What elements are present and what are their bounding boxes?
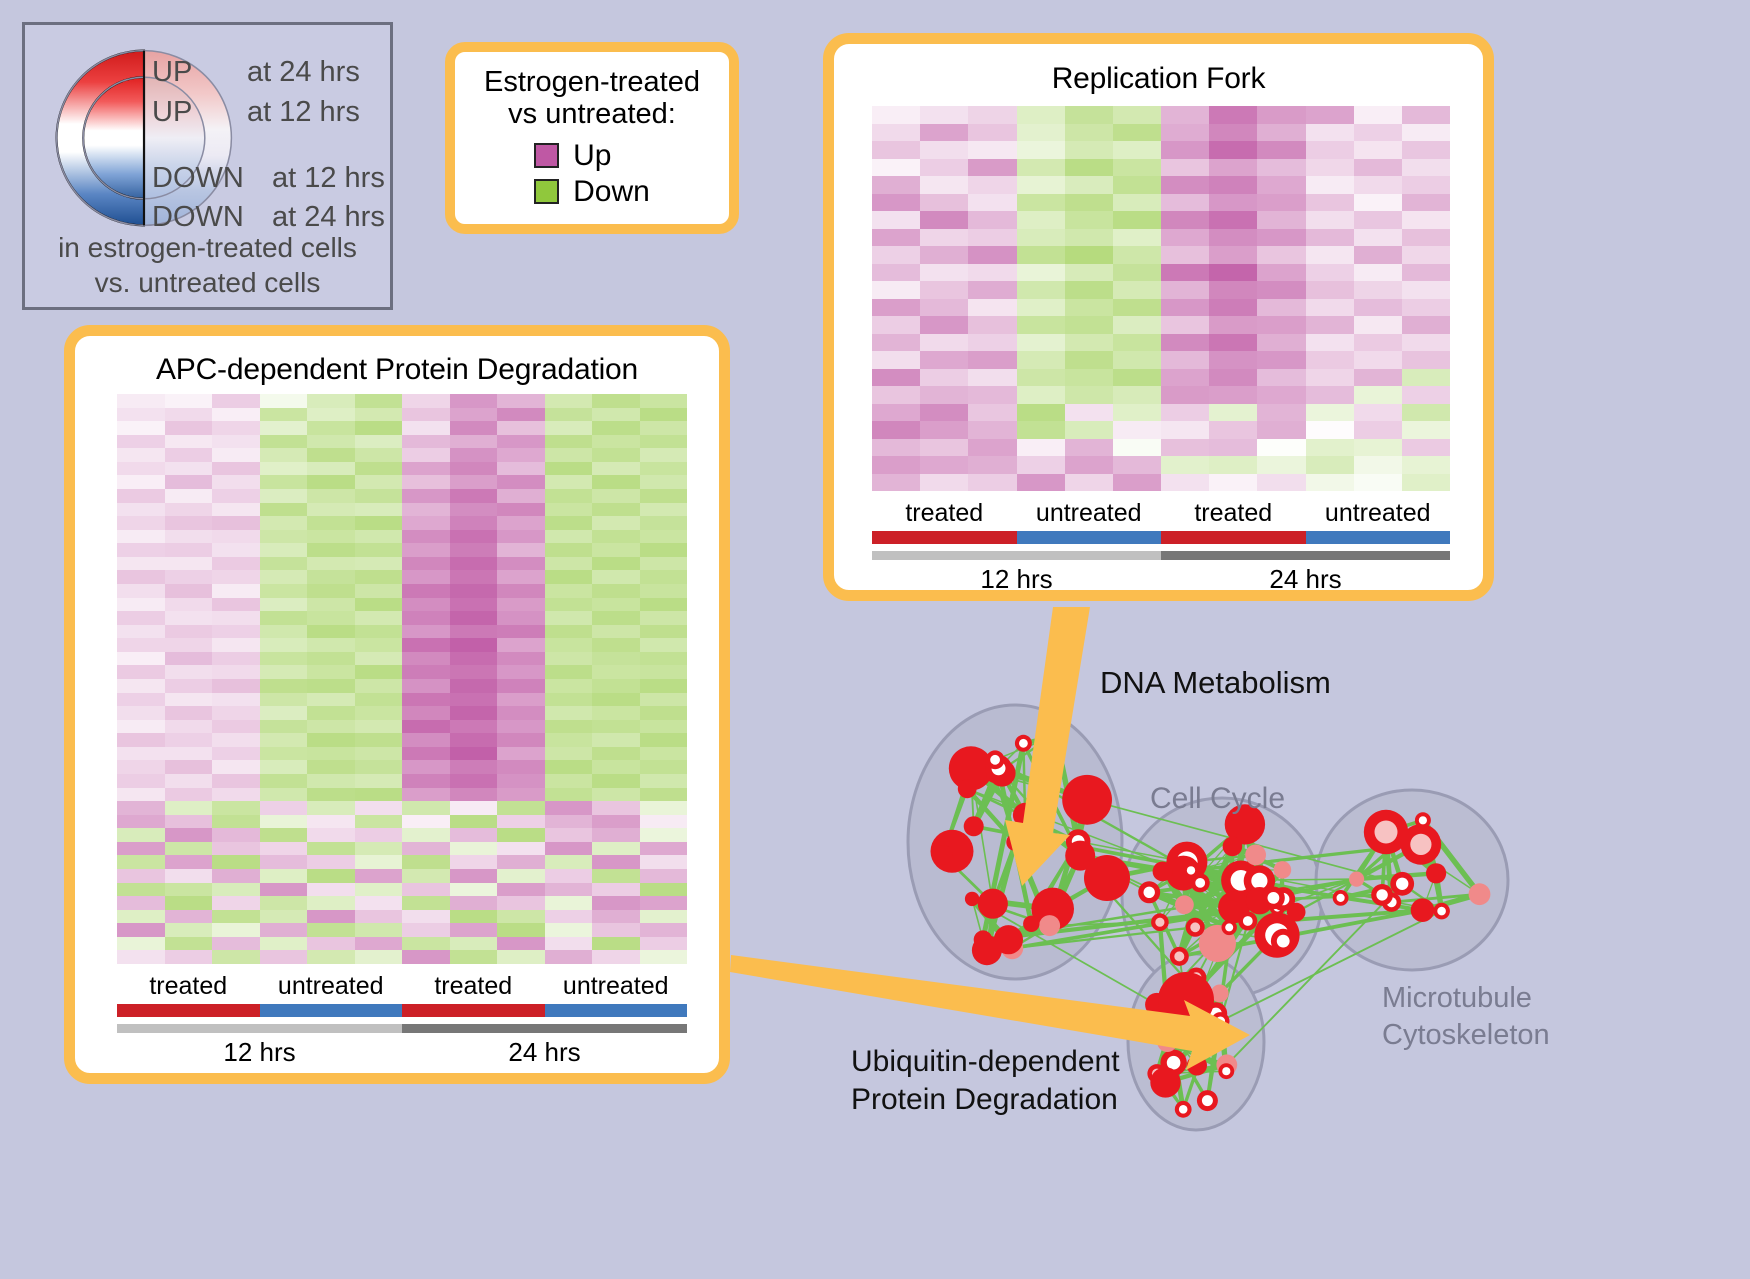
heatmap-cell xyxy=(545,652,593,666)
heatmap-cell xyxy=(920,264,968,282)
heatmap-cell xyxy=(260,842,308,856)
key-row-0-time: at 24 hrs xyxy=(247,56,360,89)
network-node xyxy=(1031,888,1074,931)
heatmap-cell xyxy=(872,194,920,212)
heatmap-cell xyxy=(1257,386,1305,404)
heatmap-cell xyxy=(260,679,308,693)
heatmap-cell xyxy=(872,176,920,194)
network-node-core xyxy=(990,755,1000,765)
heatmap-cell xyxy=(640,950,688,964)
heatmap-cell xyxy=(592,815,640,829)
heatmap-cell xyxy=(1306,474,1354,492)
heatmap-cell xyxy=(212,408,260,422)
heatmap-cell xyxy=(497,625,545,639)
heatmap-cell xyxy=(402,828,450,842)
heatmap-cell xyxy=(260,720,308,734)
heatmap-cell xyxy=(592,421,640,435)
heatmap-cell xyxy=(212,584,260,598)
network-node xyxy=(1066,829,1091,854)
network-node xyxy=(1175,1101,1192,1118)
heatmap-cell xyxy=(165,638,213,652)
heatmap-cell xyxy=(1161,474,1209,492)
heatmap-cell xyxy=(640,788,688,802)
network-node xyxy=(1205,1002,1228,1025)
network-node xyxy=(994,925,1023,954)
legend-header: Estrogen-treated vs untreated: xyxy=(484,66,700,131)
heatmap-cell xyxy=(307,788,355,802)
heatmap-cell xyxy=(640,557,688,571)
heatmap-cell xyxy=(355,815,403,829)
heatmap-cell xyxy=(1065,316,1113,334)
heatmap-cell xyxy=(640,584,688,598)
heatmap-cell xyxy=(117,679,165,693)
heatmap-cell xyxy=(497,747,545,761)
heatmap-cell xyxy=(1402,351,1450,369)
heatmap-cell xyxy=(640,923,688,937)
heatmap-cell xyxy=(497,855,545,869)
heatmap-cell xyxy=(1306,439,1354,457)
heatmap-cell xyxy=(165,543,213,557)
time-labels: 12 hrs24 hrs xyxy=(117,1037,687,1068)
heatmap-cell xyxy=(117,774,165,788)
heatmap-cell xyxy=(1257,194,1305,212)
heatmap-cell xyxy=(260,815,308,829)
heatmap-cell xyxy=(640,625,688,639)
network-node-core xyxy=(1337,894,1345,902)
heatmap-cell xyxy=(260,910,308,924)
heatmap-cell xyxy=(545,448,593,462)
heatmap-cell xyxy=(212,489,260,503)
heatmap-cell xyxy=(1113,334,1161,352)
cluster-label-ubiquitin: Ubiquitin-dependent Protein Degradation xyxy=(851,1043,1120,1120)
heatmap-cell xyxy=(450,855,498,869)
heatmap-cell xyxy=(307,774,355,788)
heatmap-cell xyxy=(1113,159,1161,177)
heatmap-cell xyxy=(165,774,213,788)
network-node xyxy=(1187,1055,1207,1075)
arrow-replication-fork xyxy=(1005,607,1090,886)
heatmap-cell xyxy=(1161,141,1209,159)
heatmap-cell xyxy=(212,855,260,869)
heatmap-cell xyxy=(497,760,545,774)
heatmap-cell xyxy=(165,503,213,517)
heatmap-cell xyxy=(1402,334,1450,352)
heatmap-cell xyxy=(497,543,545,557)
network-node xyxy=(1153,862,1173,882)
color-key-box: UP at 24 hrs UP at 12 hrs DOWN at 12 hrs… xyxy=(22,22,393,310)
heatmap-cell xyxy=(968,124,1016,142)
network-node xyxy=(1183,862,1199,878)
time-label: 12 hrs xyxy=(117,1037,402,1068)
heatmap-cell xyxy=(640,815,688,829)
heatmap-cell xyxy=(450,421,498,435)
heatmap-cell xyxy=(1209,281,1257,299)
heatmap-cell xyxy=(117,598,165,612)
heatmap-cell xyxy=(497,910,545,924)
heatmap-cell xyxy=(1354,211,1402,229)
heatmap-cell xyxy=(1354,141,1402,159)
heatmap-cell xyxy=(402,475,450,489)
cluster-halo-dna-metabolism xyxy=(908,705,1122,979)
network-node xyxy=(1166,856,1201,891)
network-node-core xyxy=(1243,916,1253,926)
heatmap-cell xyxy=(1209,159,1257,177)
heatmap-cell xyxy=(497,421,545,435)
network-node xyxy=(1150,1067,1180,1097)
heatmap-cell xyxy=(402,598,450,612)
heatmap-cell xyxy=(872,299,920,317)
network-node-core xyxy=(1019,739,1028,748)
heatmap-cell xyxy=(968,176,1016,194)
replication-fork-panel: Replication Fork treateduntreatedtreated… xyxy=(823,33,1494,601)
heatmap-cell xyxy=(1017,351,1065,369)
heatmap-cell xyxy=(402,693,450,707)
heatmap-cell xyxy=(307,448,355,462)
heatmap-cell xyxy=(212,747,260,761)
heatmap-cell xyxy=(1113,369,1161,387)
cluster-label-microtubule: Microtubule Cytoskeleton xyxy=(1382,980,1550,1054)
heatmap-cell xyxy=(212,394,260,408)
heatmap-cell xyxy=(497,462,545,476)
heatmap-cell xyxy=(968,194,1016,212)
heatmap-cell xyxy=(1209,456,1257,474)
network-node-core xyxy=(1174,951,1184,961)
heatmap-cell xyxy=(165,652,213,666)
heatmap-cell xyxy=(640,910,688,924)
heatmap-cell xyxy=(402,950,450,964)
network-node xyxy=(1147,1064,1166,1083)
heatmap-cell xyxy=(307,421,355,435)
heatmap-cell xyxy=(1306,299,1354,317)
heatmap-cell xyxy=(212,611,260,625)
heatmap-cell xyxy=(212,679,260,693)
heatmap-cell xyxy=(402,625,450,639)
network-node xyxy=(1270,900,1286,916)
network-node xyxy=(1186,968,1206,988)
legend-item-up-label: Up xyxy=(573,139,611,173)
heatmap-cell xyxy=(968,474,1016,492)
heatmap-cell xyxy=(117,747,165,761)
heatmap-cell xyxy=(165,679,213,693)
network-node-core xyxy=(1176,851,1197,872)
treatment-segment xyxy=(260,1004,403,1017)
heatmap-cell xyxy=(260,611,308,625)
legend-item-down-label: Down xyxy=(573,175,650,209)
heatmap-cell xyxy=(165,625,213,639)
heatmap-cell xyxy=(497,557,545,571)
heatmap-cell xyxy=(450,475,498,489)
network-node xyxy=(1166,842,1207,883)
heatmap-cell xyxy=(450,693,498,707)
heatmap-cell xyxy=(1065,229,1113,247)
heatmap-cell xyxy=(1065,159,1113,177)
heatmap-cell xyxy=(592,774,640,788)
heatmap-cell xyxy=(165,435,213,449)
heatmap-cell xyxy=(1402,124,1450,142)
heatmap-cell xyxy=(165,937,213,951)
heatmap-cell xyxy=(117,760,165,774)
heatmap-cell xyxy=(212,503,260,517)
heatmap-cell xyxy=(968,316,1016,334)
heatmap-cell xyxy=(260,584,308,598)
heatmap-cell xyxy=(1017,386,1065,404)
heatmap-cell xyxy=(1209,404,1257,422)
heatmap-cell xyxy=(968,159,1016,177)
heatmap-cell xyxy=(165,788,213,802)
heatmap-cell xyxy=(1402,369,1450,387)
heatmap-cell xyxy=(117,489,165,503)
heatmap-cell xyxy=(497,448,545,462)
network-node xyxy=(933,845,953,865)
heatmap-cell xyxy=(1354,404,1402,422)
heatmap-cell xyxy=(1065,369,1113,387)
apc-panel: APC-dependent Protein Degradation treate… xyxy=(64,325,730,1084)
network-node-core xyxy=(1155,918,1164,927)
heatmap-cell xyxy=(640,693,688,707)
heatmap-cell xyxy=(402,652,450,666)
heatmap-cell xyxy=(450,625,498,639)
heatmap-cell xyxy=(640,638,688,652)
heatmap-cell xyxy=(1017,369,1065,387)
heatmap-cell xyxy=(212,462,260,476)
heatmap-cell xyxy=(1402,439,1450,457)
heatmap-cell xyxy=(497,665,545,679)
heatmap-cell xyxy=(592,950,640,964)
heatmap-cell xyxy=(1065,351,1113,369)
heatmap-cell xyxy=(450,394,498,408)
time-segment xyxy=(872,551,1161,560)
heatmap-cell xyxy=(260,801,308,815)
heatmap-cell xyxy=(872,404,920,422)
heatmap-cell xyxy=(402,842,450,856)
heatmap-cell xyxy=(1402,404,1450,422)
heatmap-cell xyxy=(1257,281,1305,299)
heatmap-cell xyxy=(968,439,1016,457)
network-node xyxy=(1238,912,1257,931)
heatmap-cell xyxy=(117,435,165,449)
heatmap-cell xyxy=(260,435,308,449)
heatmap-cell xyxy=(872,264,920,282)
heatmap-cell xyxy=(545,733,593,747)
cluster-halo-ubiquitin xyxy=(1128,954,1264,1130)
heatmap-cell xyxy=(920,229,968,247)
heatmap-cell xyxy=(545,896,593,910)
heatmap-cell xyxy=(212,570,260,584)
heatmap-cell xyxy=(1209,334,1257,352)
heatmap-cell xyxy=(640,760,688,774)
heatmap-cell xyxy=(545,408,593,422)
heatmap-cell xyxy=(1402,246,1450,264)
heatmap-cell xyxy=(307,693,355,707)
heatmap-cell xyxy=(640,720,688,734)
heatmap-cell xyxy=(1257,229,1305,247)
heatmap-cell xyxy=(1113,421,1161,439)
heatmap-cell xyxy=(497,937,545,951)
heatmap-cell xyxy=(212,760,260,774)
heatmap-cell xyxy=(260,448,308,462)
network-node-core xyxy=(1437,907,1446,916)
heatmap-cell xyxy=(1161,316,1209,334)
heatmap-cell xyxy=(497,530,545,544)
heatmap-cell xyxy=(355,788,403,802)
heatmap-cell xyxy=(450,896,498,910)
heatmap-cell xyxy=(592,855,640,869)
key-row-0-value: UP xyxy=(152,56,192,89)
network-node-core xyxy=(1144,887,1155,898)
heatmap-cell xyxy=(545,828,593,842)
heatmap-cell xyxy=(402,760,450,774)
heatmap-cell xyxy=(165,394,213,408)
heatmap-cell xyxy=(592,747,640,761)
network-node xyxy=(1151,913,1169,931)
network-node-core xyxy=(992,761,1006,775)
heatmap-cell xyxy=(545,665,593,679)
heatmap-cell xyxy=(355,937,403,951)
heatmap-cell xyxy=(1354,369,1402,387)
key-row-2-time: at 12 hrs xyxy=(272,162,385,195)
network-node xyxy=(1333,890,1349,906)
heatmap-cell xyxy=(1209,246,1257,264)
heatmap-cell xyxy=(640,408,688,422)
time-label: 24 hrs xyxy=(402,1037,687,1068)
heatmap-cell xyxy=(117,923,165,937)
heatmap-cell xyxy=(450,448,498,462)
heatmap-cell xyxy=(640,801,688,815)
heatmap-cell xyxy=(640,462,688,476)
network-node xyxy=(964,816,984,836)
heatmap-cell xyxy=(1113,106,1161,124)
heatmap-cell xyxy=(402,937,450,951)
heatmap-cell xyxy=(1306,316,1354,334)
heatmap-cell xyxy=(640,679,688,693)
heatmap-cell xyxy=(872,351,920,369)
heatmap-cell xyxy=(592,706,640,720)
heatmap-cell xyxy=(450,828,498,842)
heatmap-cell xyxy=(640,421,688,435)
heatmap-cell xyxy=(497,435,545,449)
heatmap-cell xyxy=(1257,176,1305,194)
heatmap-cell xyxy=(545,570,593,584)
heatmap-cell xyxy=(545,693,593,707)
heatmap-cell xyxy=(355,910,403,924)
heatmap-cell xyxy=(640,706,688,720)
heatmap-cell xyxy=(165,896,213,910)
network-node-core xyxy=(1410,834,1431,855)
heatmap-cell xyxy=(355,747,403,761)
treatment-segment xyxy=(545,1004,688,1017)
group-label: treated xyxy=(1161,499,1306,528)
heatmap-cell xyxy=(117,828,165,842)
heatmap-cell xyxy=(212,435,260,449)
heatmap-cell xyxy=(1113,264,1161,282)
heatmap-cell xyxy=(640,842,688,856)
network-node xyxy=(1271,887,1295,911)
heatmap-cell xyxy=(1065,264,1113,282)
heatmap-cell xyxy=(1113,456,1161,474)
heatmap-cell xyxy=(1113,229,1161,247)
heatmap-cell xyxy=(1209,124,1257,142)
heatmap-cell xyxy=(872,281,920,299)
heatmap-cell xyxy=(920,141,968,159)
heatmap-cell xyxy=(592,475,640,489)
heatmap-cell xyxy=(307,543,355,557)
heatmap-cell xyxy=(545,394,593,408)
heatmap-cell xyxy=(592,530,640,544)
heatmap-cell xyxy=(260,652,308,666)
heatmap-cell xyxy=(1065,386,1113,404)
heatmap-cell xyxy=(355,665,403,679)
heatmap-cell xyxy=(212,733,260,747)
network-node xyxy=(1401,824,1442,865)
heatmap-cell xyxy=(402,462,450,476)
network-node xyxy=(931,830,974,873)
heatmap-cell xyxy=(1257,124,1305,142)
heatmap-cell xyxy=(402,394,450,408)
network-node-core xyxy=(1375,821,1398,844)
heatmap-cell xyxy=(1209,106,1257,124)
heatmap-cell xyxy=(355,584,403,598)
heatmap-cell xyxy=(117,869,165,883)
heatmap-cell xyxy=(260,516,308,530)
network-node xyxy=(1158,972,1214,1028)
heatmap-cell xyxy=(307,503,355,517)
network-node xyxy=(1371,884,1393,906)
heatmap-cell xyxy=(497,503,545,517)
heatmap-cell xyxy=(872,106,920,124)
group-label: treated xyxy=(117,972,260,1001)
heatmap-cell xyxy=(920,334,968,352)
heatmap-cell xyxy=(1161,439,1209,457)
heatmap-cell xyxy=(260,625,308,639)
heatmap-cell xyxy=(402,611,450,625)
heatmap-cell xyxy=(212,652,260,666)
heatmap-cell xyxy=(968,211,1016,229)
heatmap-cell xyxy=(1113,124,1161,142)
heatmap-cell xyxy=(920,456,968,474)
heatmap-cell xyxy=(450,611,498,625)
cluster-label-dna-metabolism: DNA Metabolism xyxy=(1100,665,1331,701)
time-segment xyxy=(1161,551,1450,560)
heatmap-cell xyxy=(1257,246,1305,264)
heatmap-cell xyxy=(1161,299,1209,317)
heatmap-cell xyxy=(117,706,165,720)
heatmap-cell xyxy=(497,706,545,720)
heatmap-cell xyxy=(165,747,213,761)
time-color-bar xyxy=(872,551,1450,560)
network-node xyxy=(1426,863,1446,883)
heatmap-cell xyxy=(545,842,593,856)
heatmap-cell xyxy=(450,679,498,693)
network-node xyxy=(1274,861,1292,879)
heatmap-cell xyxy=(165,408,213,422)
heatmap-cell xyxy=(355,557,403,571)
heatmap-cell xyxy=(1257,106,1305,124)
heatmap-cell xyxy=(260,557,308,571)
heatmap-cell xyxy=(497,815,545,829)
heatmap-cell xyxy=(920,159,968,177)
network-node xyxy=(985,755,1012,782)
heatmap-cell xyxy=(1017,159,1065,177)
heatmap-cell xyxy=(450,435,498,449)
network-node xyxy=(1049,736,1066,753)
heatmap-cell xyxy=(1161,159,1209,177)
heatmap-cell xyxy=(640,747,688,761)
heatmap-cell xyxy=(545,679,593,693)
heatmap-cell xyxy=(497,475,545,489)
network-node xyxy=(1084,855,1130,901)
heatmap-cell xyxy=(1402,264,1450,282)
heatmap-cell xyxy=(165,530,213,544)
